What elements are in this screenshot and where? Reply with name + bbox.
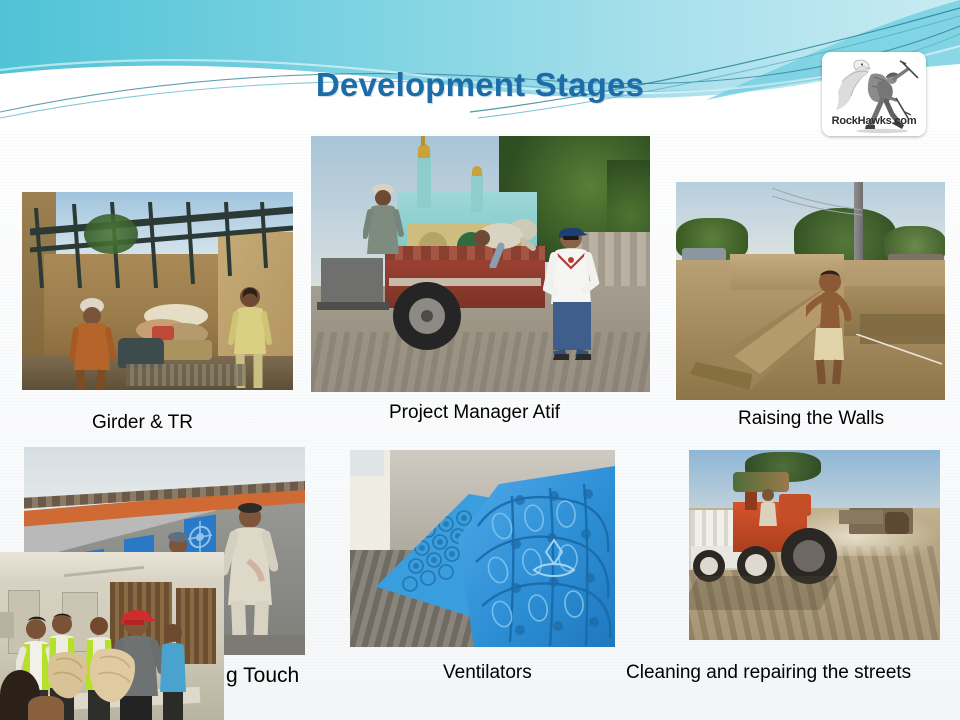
- atif-scene: [311, 136, 650, 392]
- slide: Development Stages: [0, 0, 960, 720]
- power-lines-icon: [772, 186, 862, 216]
- caption-ventilators: Ventilators: [443, 662, 532, 684]
- relief-sack: [44, 650, 92, 702]
- caption-project-manager: Project Manager Atif: [389, 402, 560, 424]
- page-title: Development Stages: [0, 66, 960, 104]
- photo-project-manager-atif[interactable]: [311, 136, 650, 392]
- boy-figure: [806, 268, 852, 386]
- photo-cleaning-streets[interactable]: [689, 450, 940, 640]
- photo-girder-tr[interactable]: [22, 192, 293, 390]
- worker-figure: [220, 501, 278, 655]
- photo-ventilators[interactable]: [350, 450, 615, 647]
- rockhawks-logo[interactable]: RockHawks.com: [822, 52, 926, 136]
- worker-figure: [70, 296, 116, 390]
- caption-streets: Cleaning and repairing the streets: [626, 662, 911, 684]
- ventilators-scene: [350, 450, 615, 647]
- photo-relief-distribution[interactable]: [0, 552, 224, 720]
- girder-tr-scene: [22, 192, 293, 390]
- string-line-icon: [856, 334, 942, 366]
- relief-distribution-scene: [0, 552, 224, 720]
- caption-raising-walls: Raising the Walls: [738, 408, 884, 430]
- caption-finishing-touch: g Touch: [226, 664, 299, 688]
- steel-girder-icon: [30, 202, 293, 288]
- bystander-figure: [158, 622, 188, 720]
- photo-raising-the-walls[interactable]: [676, 182, 945, 400]
- project-manager-figure: [543, 220, 603, 360]
- tractor-driver-figure: [757, 488, 779, 530]
- raising-walls-scene: [676, 182, 945, 400]
- caption-girder-tr: Girder & TR: [92, 412, 193, 434]
- header-banner: [0, 0, 960, 130]
- relief-sack: [86, 646, 140, 704]
- worker-figure: [363, 182, 405, 260]
- cleaning-streets-scene: [689, 450, 940, 640]
- logo-text: RockHawks.com: [822, 115, 926, 127]
- bending-worker-figure: [471, 214, 537, 268]
